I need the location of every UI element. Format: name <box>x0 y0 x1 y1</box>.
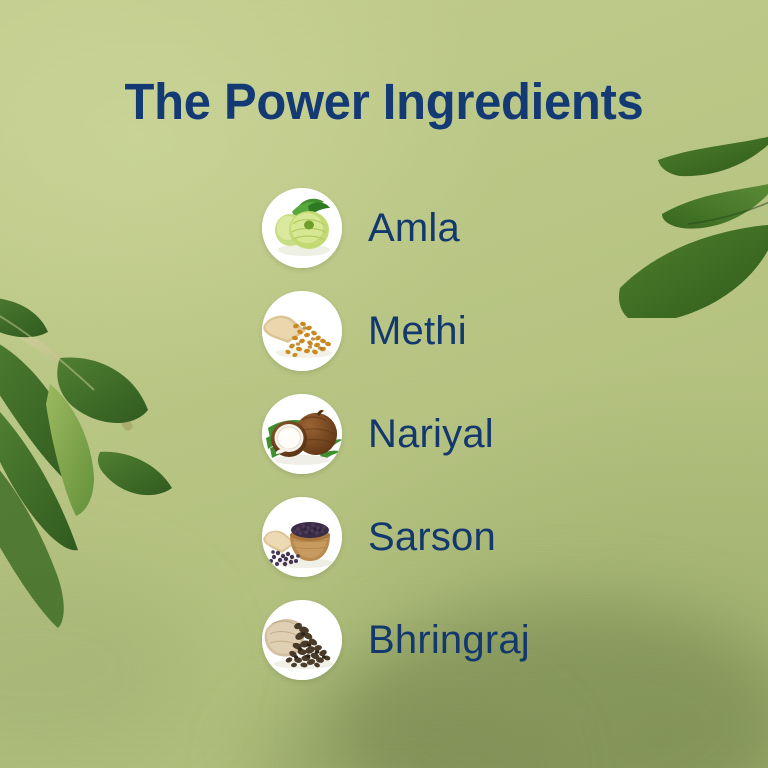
ingredient-label: Bhringraj <box>368 620 530 660</box>
list-item[interactable]: Bhringraj <box>262 600 530 680</box>
list-item[interactable]: Nariyal <box>262 394 530 474</box>
list-item[interactable]: Methi <box>262 291 530 371</box>
list-item[interactable]: Sarson <box>262 497 530 577</box>
ingredient-label: Amla <box>368 208 460 248</box>
methi-fenugreek-seeds-icon <box>262 291 342 371</box>
poster-canvas: The Power Ingredients <box>0 0 768 768</box>
background-shadow-left <box>0 560 200 768</box>
nariyal-coconut-icon <box>262 394 342 474</box>
list-item[interactable]: Amla <box>262 188 530 268</box>
bhringraj-herb-icon <box>262 600 342 680</box>
ingredient-label: Methi <box>368 311 467 351</box>
branch-with-leaves-icon <box>0 292 242 582</box>
amla-gooseberry-icon <box>262 188 342 268</box>
page-title: The Power Ingredients <box>15 72 752 131</box>
ingredient-label: Nariyal <box>368 414 494 454</box>
sarson-mustard-seeds-icon <box>262 497 342 577</box>
leaf-cluster-icon <box>596 128 768 318</box>
ingredient-list: Amla <box>262 188 530 680</box>
background-shadow-bottom-secondary <box>250 690 550 768</box>
branch-lower-leaf-icon <box>0 430 150 630</box>
ingredient-label: Sarson <box>368 517 496 557</box>
